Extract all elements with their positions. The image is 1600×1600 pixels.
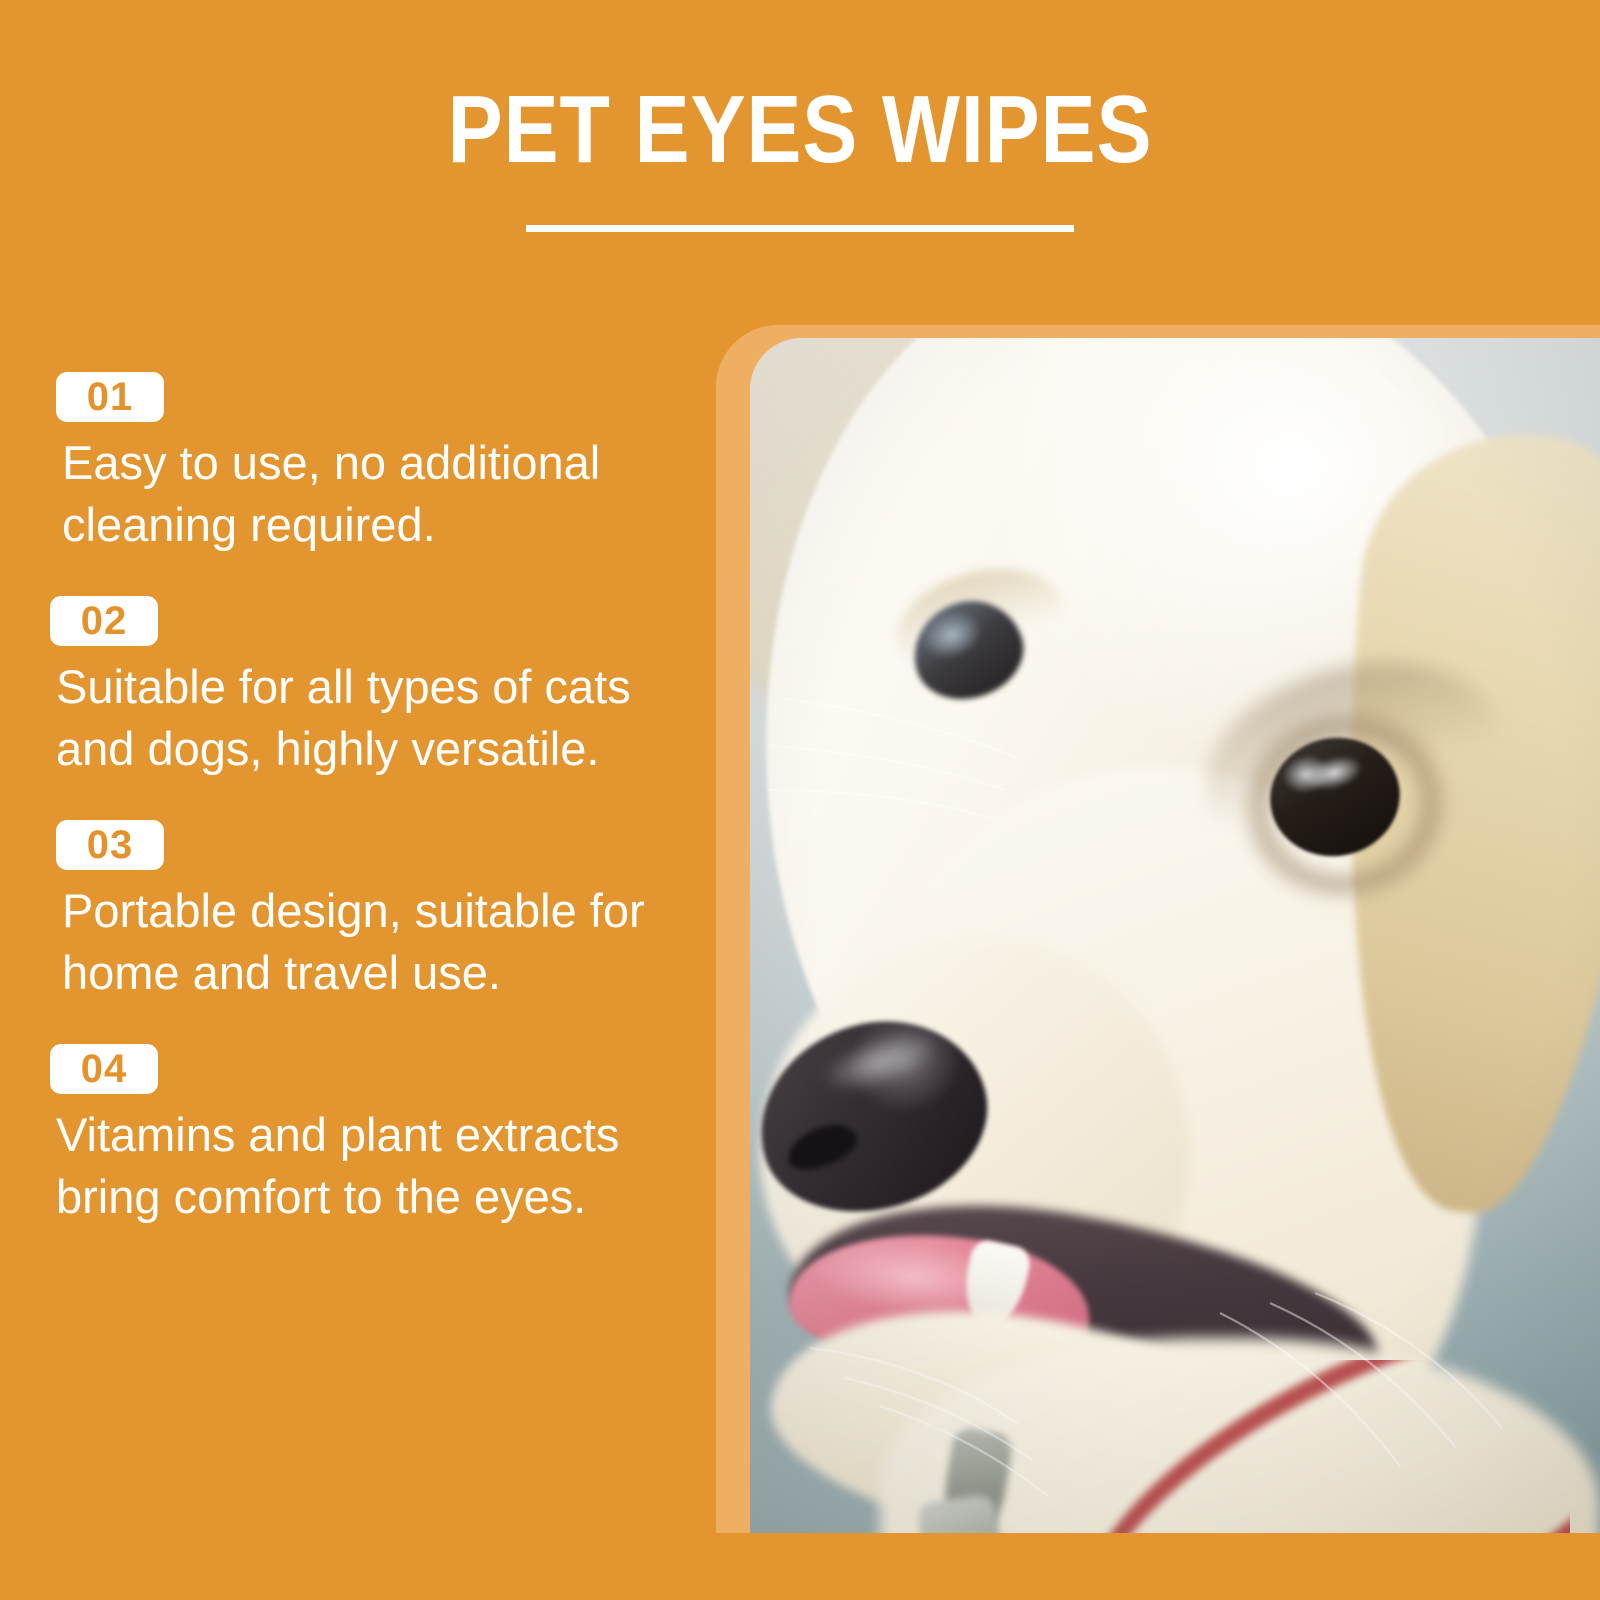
dog-collar-band bbox=[1050, 1360, 1570, 1533]
dog-photo bbox=[750, 338, 1600, 1533]
feature-number-badge: 02 bbox=[50, 596, 158, 646]
dog-collar bbox=[1050, 1360, 1570, 1533]
feature-description: Portable design, suitable for home and t… bbox=[62, 880, 700, 1004]
feature-item-03: 03 Portable design, suitable for home an… bbox=[56, 820, 700, 1004]
title-block: PET EYES WIPES bbox=[0, 82, 1600, 232]
feature-item-01: 01 Easy to use, no additional cleaning r… bbox=[56, 372, 700, 556]
feature-item-02: 02 Suitable for all types of cats and do… bbox=[50, 596, 700, 780]
feature-list: 01 Easy to use, no additional cleaning r… bbox=[50, 372, 700, 1228]
feature-description: Vitamins and plant extracts bring comfor… bbox=[56, 1104, 696, 1228]
feature-number-badge: 03 bbox=[56, 820, 164, 870]
feature-number-badge: 04 bbox=[50, 1044, 158, 1094]
feature-description: Suitable for all types of cats and dogs,… bbox=[56, 656, 696, 780]
feature-item-04: 04 Vitamins and plant extracts bring com… bbox=[50, 1044, 700, 1228]
page-title: PET EYES WIPES bbox=[112, 82, 1488, 178]
product-feature-poster: PET EYES WIPES 01 Easy to use, no additi… bbox=[0, 0, 1600, 1600]
feature-description: Easy to use, no additional cleaning requ… bbox=[62, 432, 700, 556]
feature-number-badge: 01 bbox=[56, 372, 164, 422]
title-underline-divider bbox=[526, 225, 1074, 232]
